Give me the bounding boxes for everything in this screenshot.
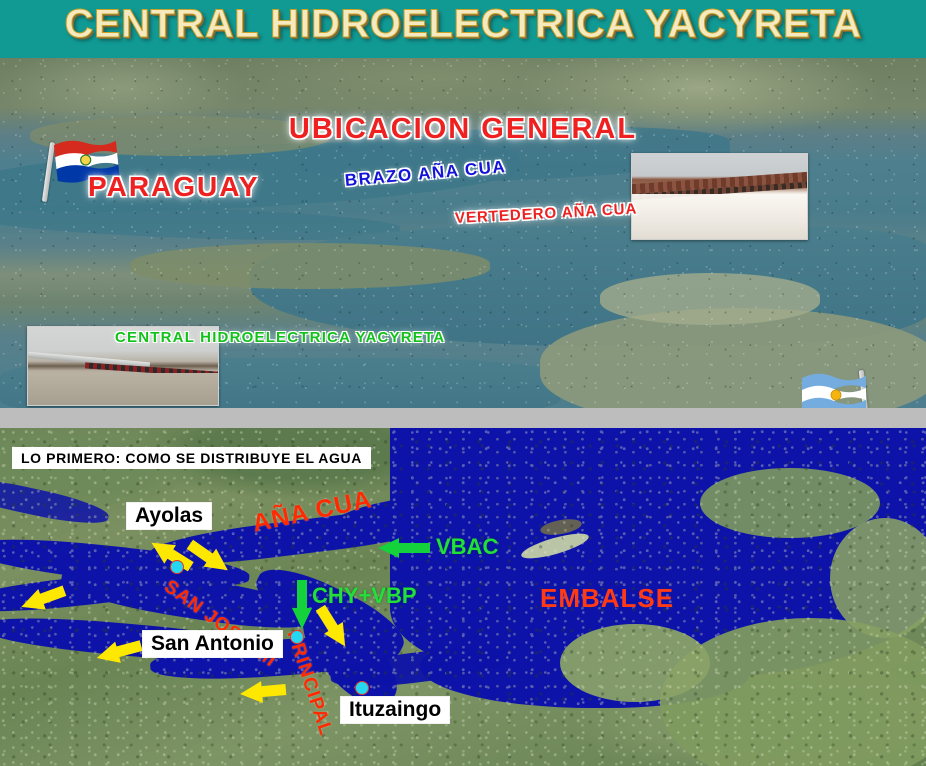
city-label-ayolas: Ayolas — [126, 502, 212, 530]
panel-divider — [0, 408, 926, 428]
feature-label-central: CENTRAL HIDROELECTRICA YACYRETA — [115, 329, 445, 346]
upper-satellite-panel: UBICACION GENERAL PARAGUAY BRAZO AÑA CUA… — [0, 58, 926, 408]
reservoir-label-embalse: EMBALSE — [540, 583, 674, 614]
header-bar: CENTRAL HIDROELECTRICA YACYRETA — [0, 0, 926, 58]
city-label-san-antonio: San Antonio — [142, 630, 283, 658]
upper-subtitle: UBICACION GENERAL — [0, 113, 926, 146]
inset-photo-spillway — [631, 153, 808, 240]
discharge-label-vbac: VBAC — [436, 534, 498, 560]
country-label-paraguay: PARAGUAY — [88, 171, 260, 203]
city-label-ituzaingo: Ituzaingo — [340, 696, 450, 724]
spillway-whitewater — [632, 194, 807, 239]
lower-banner: LO PRIMERO: COMO SE DISTRIBUYE EL AGUA — [12, 447, 371, 469]
page-title: CENTRAL HIDROELECTRICA YACYRETA — [0, 2, 926, 47]
argentina-flag — [800, 366, 880, 408]
slide-root: CENTRAL HIDROELECTRICA YACYRETA — [0, 0, 926, 766]
city-dot-san-antonio — [290, 630, 304, 644]
lower-texture-overlay — [0, 428, 926, 766]
city-dot-ituzaingo — [355, 681, 369, 695]
city-dot-ayolas — [170, 560, 184, 574]
flow-arrow-yellow-5 — [239, 679, 287, 705]
powerplant-tailwater — [28, 373, 218, 405]
flow-arrow-green-chy-vbp — [292, 580, 312, 630]
lower-satellite-panel: LO PRIMERO: COMO SE DISTRIBUYE EL AGUA E… — [0, 428, 926, 766]
flow-arrow-green-vbac — [378, 538, 430, 558]
